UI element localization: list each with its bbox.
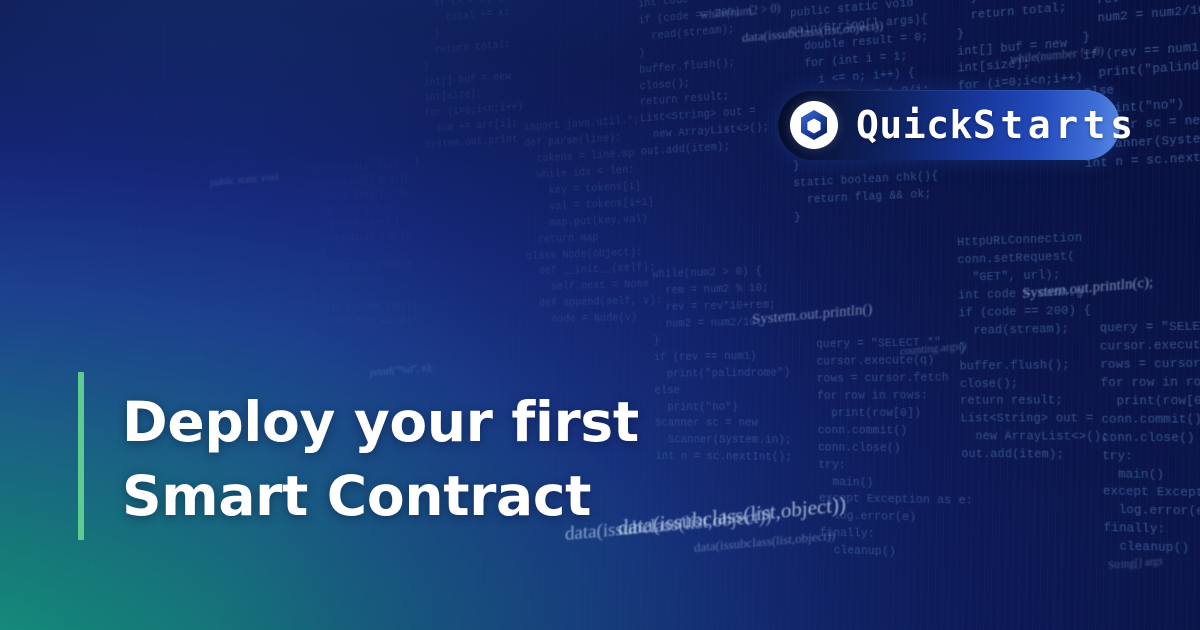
quickstarts-badge-label: QuickStarts [856,106,1138,144]
quickstarts-badge[interactable]: QuickStarts [778,90,1120,160]
badge-label-quick: Quick [856,103,973,147]
page-title-line-1: Deploy your first [122,386,762,460]
headline-accent-bar [78,372,84,540]
page-title: Deploy your first Smart Contract [122,386,762,533]
page-title-line-2: Smart Contract [122,460,762,534]
quickstarts-banner: public class Main { static int n = 0; vo… [0,0,1200,630]
badge-label-starts: Starts [973,103,1138,147]
chainlink-hexagon-icon [790,101,838,149]
